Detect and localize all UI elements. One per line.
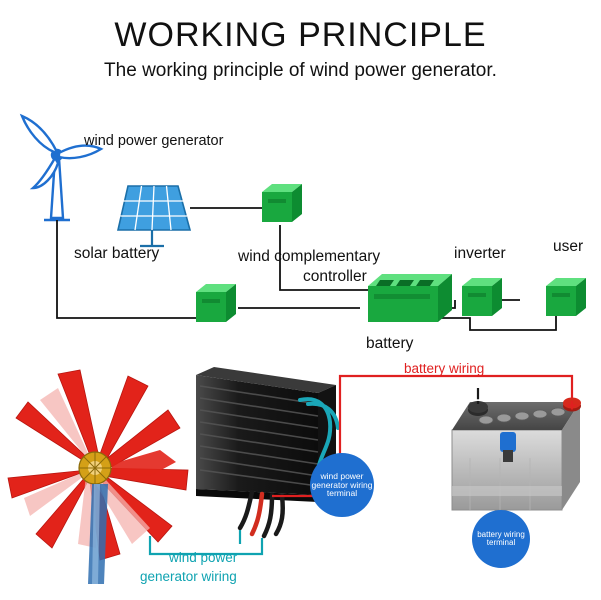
label-wind-power-generator: wind power generator <box>84 133 223 149</box>
label-solar-battery: solar battery <box>74 245 159 263</box>
lead-acid-battery-photo <box>452 398 581 511</box>
green-box-left <box>196 284 236 322</box>
system-schematic: wind power generator solar battery wind … <box>0 100 601 360</box>
battery-unit-icon <box>368 274 452 322</box>
solar-panel-icon <box>118 186 190 246</box>
charge-controller-photo <box>196 367 338 536</box>
wind-turbine-icon <box>22 116 101 220</box>
terminal-positive-mark: + <box>567 396 577 416</box>
user-box-icon <box>546 278 586 316</box>
label-generator-wiring-line1: wind power <box>169 550 237 565</box>
working-principle-infographic: WORKING PRINCIPLE The working principle … <box>0 0 601 600</box>
label-controller-line1: wind complementary <box>238 248 380 266</box>
page-subtitle: The working principle of wind power gene… <box>0 60 601 82</box>
green-box-top <box>262 184 302 222</box>
red-wind-turbine-photo <box>8 370 188 584</box>
inverter-icon <box>462 278 502 316</box>
label-inverter: inverter <box>454 245 506 263</box>
label-battery: battery <box>366 335 413 353</box>
label-generator-wiring-line2: generator wiring <box>140 569 237 584</box>
page-title: WORKING PRINCIPLE <box>0 16 601 55</box>
label-controller-line2: controller <box>303 268 367 286</box>
label-user: user <box>553 238 583 256</box>
terminal-negative-mark: − <box>474 392 483 409</box>
product-wiring-photo: wind power generator wiring terminal bat… <box>0 358 601 600</box>
callout-generator-terminal: wind power generator wiring terminal <box>311 454 373 516</box>
label-battery-wiring: battery wiring <box>404 361 484 376</box>
callout-battery-terminal: battery wiring terminal <box>473 511 529 567</box>
